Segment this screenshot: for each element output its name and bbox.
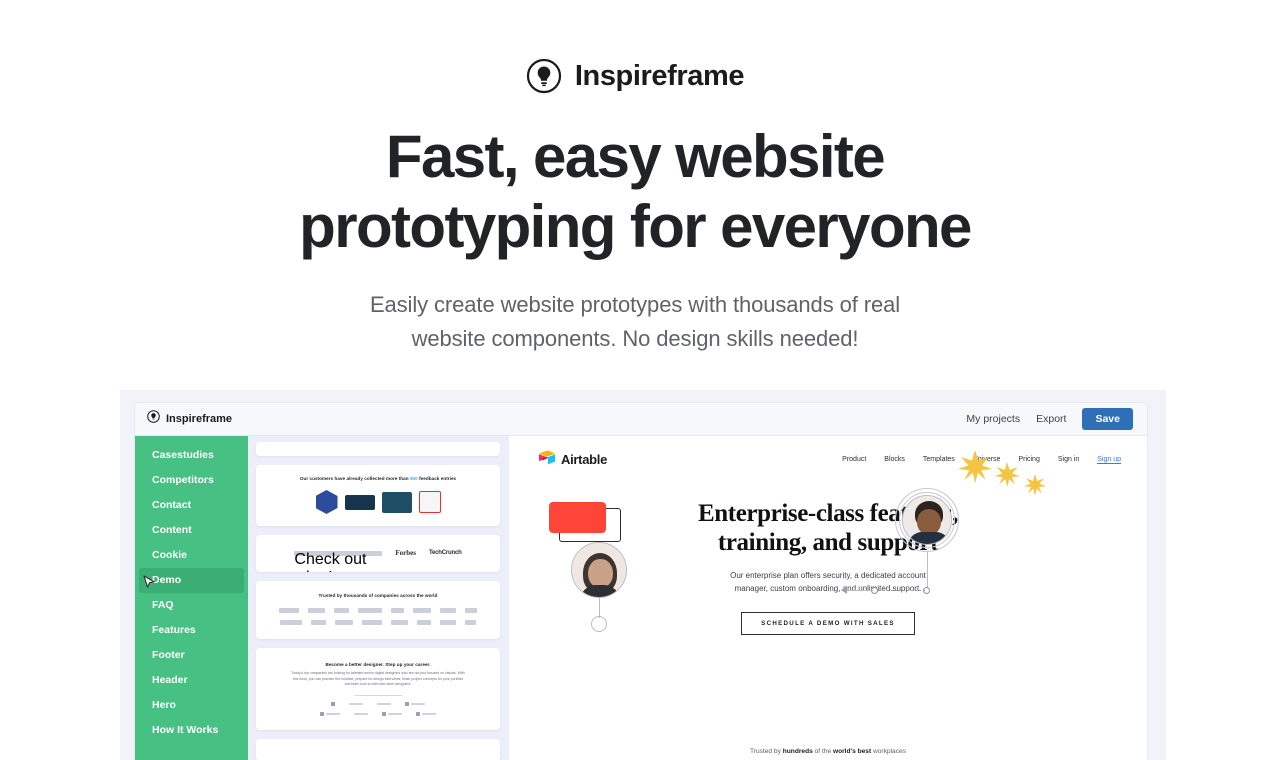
app-body: Casestudies Competitors Contact Content …: [135, 436, 1147, 760]
headline-line-2: prototyping for everyone: [299, 193, 971, 260]
preview-trust-line: Trusted by hundreds of the world's best …: [509, 748, 1147, 755]
app-topbar: Inspireframe My projects Export Save: [135, 403, 1147, 436]
component-card-title: Become a better designer. Step up your c…: [256, 661, 500, 668]
connector-line: [847, 590, 873, 591]
rating-badge-icon: [382, 492, 412, 513]
badge-row: [256, 490, 500, 514]
page-title: Fast, easy website prototyping for every…: [0, 122, 1270, 262]
live-preview-canvas[interactable]: Airtable Product Blocks Templates Univer…: [508, 436, 1147, 760]
subhead-line-2: website components. No design skills nee…: [412, 326, 859, 351]
app-window: Inspireframe My projects Export Save Cas…: [135, 403, 1147, 760]
component-category-sidebar: Casestudies Competitors Contact Content …: [135, 436, 248, 760]
sidebar-item-casestudies[interactable]: Casestudies: [139, 443, 244, 468]
component-card[interactable]: [256, 739, 500, 760]
card-title-prefix: Our customers have already collected mor…: [300, 476, 410, 481]
press-logo-row: Check out who I am among you by name, we…: [256, 549, 500, 557]
connector-line: [599, 598, 600, 618]
lightbulb-circle-icon: [147, 410, 160, 428]
sidebar-item-features[interactable]: Features: [139, 618, 244, 643]
nav-link-product[interactable]: Product: [842, 456, 866, 463]
preview-body-line-2: manager, custom onboarding, and unlimite…: [735, 584, 922, 593]
app-screenshot-mockup: Inspireframe My projects Export Save Cas…: [120, 390, 1166, 760]
trust-bold-2: world's best: [833, 748, 871, 755]
airtable-brand: Airtable: [539, 450, 607, 469]
avatar-photo-woman: [571, 542, 627, 598]
client-logo-row-1: [256, 608, 500, 613]
sidebar-item-cookie[interactable]: Cookie: [139, 543, 244, 568]
my-projects-link[interactable]: My projects: [966, 413, 1020, 425]
component-list[interactable]: Our customers have already collected mor…: [248, 436, 508, 760]
airtable-logo-icon: [539, 450, 555, 469]
caption-placeholder: Check out who I am among you by name, we…: [294, 551, 382, 556]
sidebar-item-header[interactable]: Header: [139, 668, 244, 693]
preview-site-nav: Airtable Product Blocks Templates Univer…: [509, 436, 1147, 469]
headline-line-1: Fast, easy website: [386, 123, 884, 190]
card-title-suffix: feedback entries: [418, 476, 456, 481]
avatar-photo-man: [895, 488, 959, 552]
preview-body-text: Our enterprise plan offers security, a d…: [569, 569, 1087, 595]
nav-link-templates[interactable]: Templates: [923, 456, 955, 463]
export-link[interactable]: Export: [1036, 413, 1066, 425]
schedule-demo-button[interactable]: SCHEDULE A DEMO WITH SALES: [741, 612, 915, 635]
dotted-connector-line: [879, 590, 925, 591]
preview-body-line-1: Our enterprise plan offers security, a d…: [730, 571, 926, 580]
component-card-title: Our customers have already collected mor…: [256, 475, 500, 482]
save-button[interactable]: Save: [1082, 408, 1133, 430]
app-brand-name: Inspireframe: [166, 413, 232, 425]
nav-link-sign-up[interactable]: Sign up: [1097, 456, 1121, 464]
card-title-highlight: 500: [410, 476, 418, 481]
landing-page: Inspireframe Fast, easy website prototyp…: [0, 0, 1270, 760]
trust-prefix: Trusted by: [750, 748, 783, 755]
sidebar-item-faq[interactable]: FAQ: [139, 593, 244, 618]
circle-node-icon: [591, 616, 607, 632]
brand-header: Inspireframe: [0, 0, 1270, 94]
sidebar-item-how-it-works[interactable]: How It Works: [139, 718, 244, 743]
trust-middle: of the: [813, 748, 833, 755]
component-card-press[interactable]: Check out who I am among you by name, we…: [256, 535, 500, 572]
component-card-body: Today's top companies are looking for ta…: [256, 671, 500, 688]
divider: [354, 695, 402, 696]
sidebar-item-contact[interactable]: Contact: [139, 493, 244, 518]
trust-bold-1: hundreds: [783, 748, 813, 755]
component-card-title: Trusted by thousands of companies across…: [256, 592, 500, 599]
lightbulb-circle-icon: [526, 58, 562, 94]
connector-line: [927, 552, 928, 589]
sidebar-item-hero[interactable]: Hero: [139, 693, 244, 718]
techcrunch-logo: TechCrunch: [429, 550, 462, 556]
client-logo-row-2: [256, 620, 500, 625]
review-badge-icon: [345, 495, 375, 510]
trust-suffix: workplaces: [871, 748, 906, 755]
forbes-logo: Forbes: [395, 549, 416, 557]
capterra-badge-icon: [419, 491, 441, 513]
app-topbar-actions: My projects Export Save: [966, 408, 1133, 430]
logo-icon-row-2: [256, 712, 500, 716]
nav-link-blocks[interactable]: Blocks: [884, 456, 905, 463]
preview-heading: Enterprise-class features, training, and…: [569, 499, 1087, 557]
speech-bubble-outline-icon: [549, 502, 613, 538]
sidebar-item-competitors[interactable]: Competitors: [139, 468, 244, 493]
component-card-feedback[interactable]: Our customers have already collected mor…: [256, 465, 500, 526]
brand-name: Inspireframe: [575, 60, 744, 93]
nav-link-sign-in[interactable]: Sign in: [1058, 456, 1079, 463]
page-subtitle: Easily create website prototypes with th…: [0, 288, 1270, 356]
subhead-line-1: Easily create website prototypes with th…: [370, 292, 900, 317]
arrow-left-icon: [841, 586, 847, 594]
component-card-designer[interactable]: Become a better designer. Step up your c…: [256, 648, 500, 730]
airtable-brand-name: Airtable: [561, 452, 607, 467]
component-card-trusted[interactable]: Trusted by thousands of companies across…: [256, 581, 500, 639]
sidebar-item-footer[interactable]: Footer: [139, 643, 244, 668]
app-brand: Inspireframe: [147, 410, 232, 428]
component-card[interactable]: [256, 442, 500, 456]
starburst-icon: [955, 448, 1047, 504]
sidebar-item-content[interactable]: Content: [139, 518, 244, 543]
mouse-cursor-icon: [143, 575, 156, 590]
award-badge-icon: [316, 490, 338, 514]
logo-icon-row-1: [256, 702, 500, 706]
